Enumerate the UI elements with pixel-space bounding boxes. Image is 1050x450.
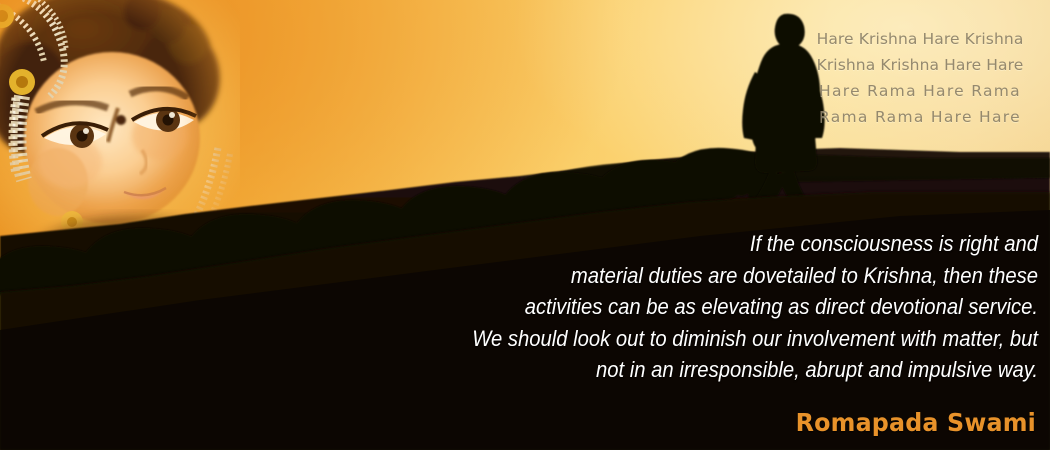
quote-line-4: We should look out to diminish our invol…: [408, 323, 1038, 355]
quote-line-1: If the consciousness is right and: [408, 228, 1038, 260]
inspirational-quote-banner: Hare Krishna Hare Krishna Krishna Krishn…: [0, 0, 1050, 450]
mantra-line-2: Krishna Krishna Hare Hare: [806, 52, 1034, 78]
mantra-line-3: Hare Rama Hare Rama: [806, 78, 1034, 104]
quote-line-5: not in an irresponsible, abrupt and impu…: [408, 354, 1038, 386]
quote-line-2: material duties are dovetailed to Krishn…: [408, 260, 1038, 292]
quote-text: If the consciousness is right and materi…: [408, 228, 1038, 386]
maha-mantra-text: Hare Krishna Hare Krishna Krishna Krishn…: [806, 26, 1034, 130]
quote-line-3: activities can be as elevating as direct…: [408, 291, 1038, 323]
quote-author: Romapada Swami: [796, 408, 1036, 437]
mantra-line-4: Rama Rama Hare Hare: [806, 104, 1034, 130]
mantra-line-1: Hare Krishna Hare Krishna: [806, 26, 1034, 52]
